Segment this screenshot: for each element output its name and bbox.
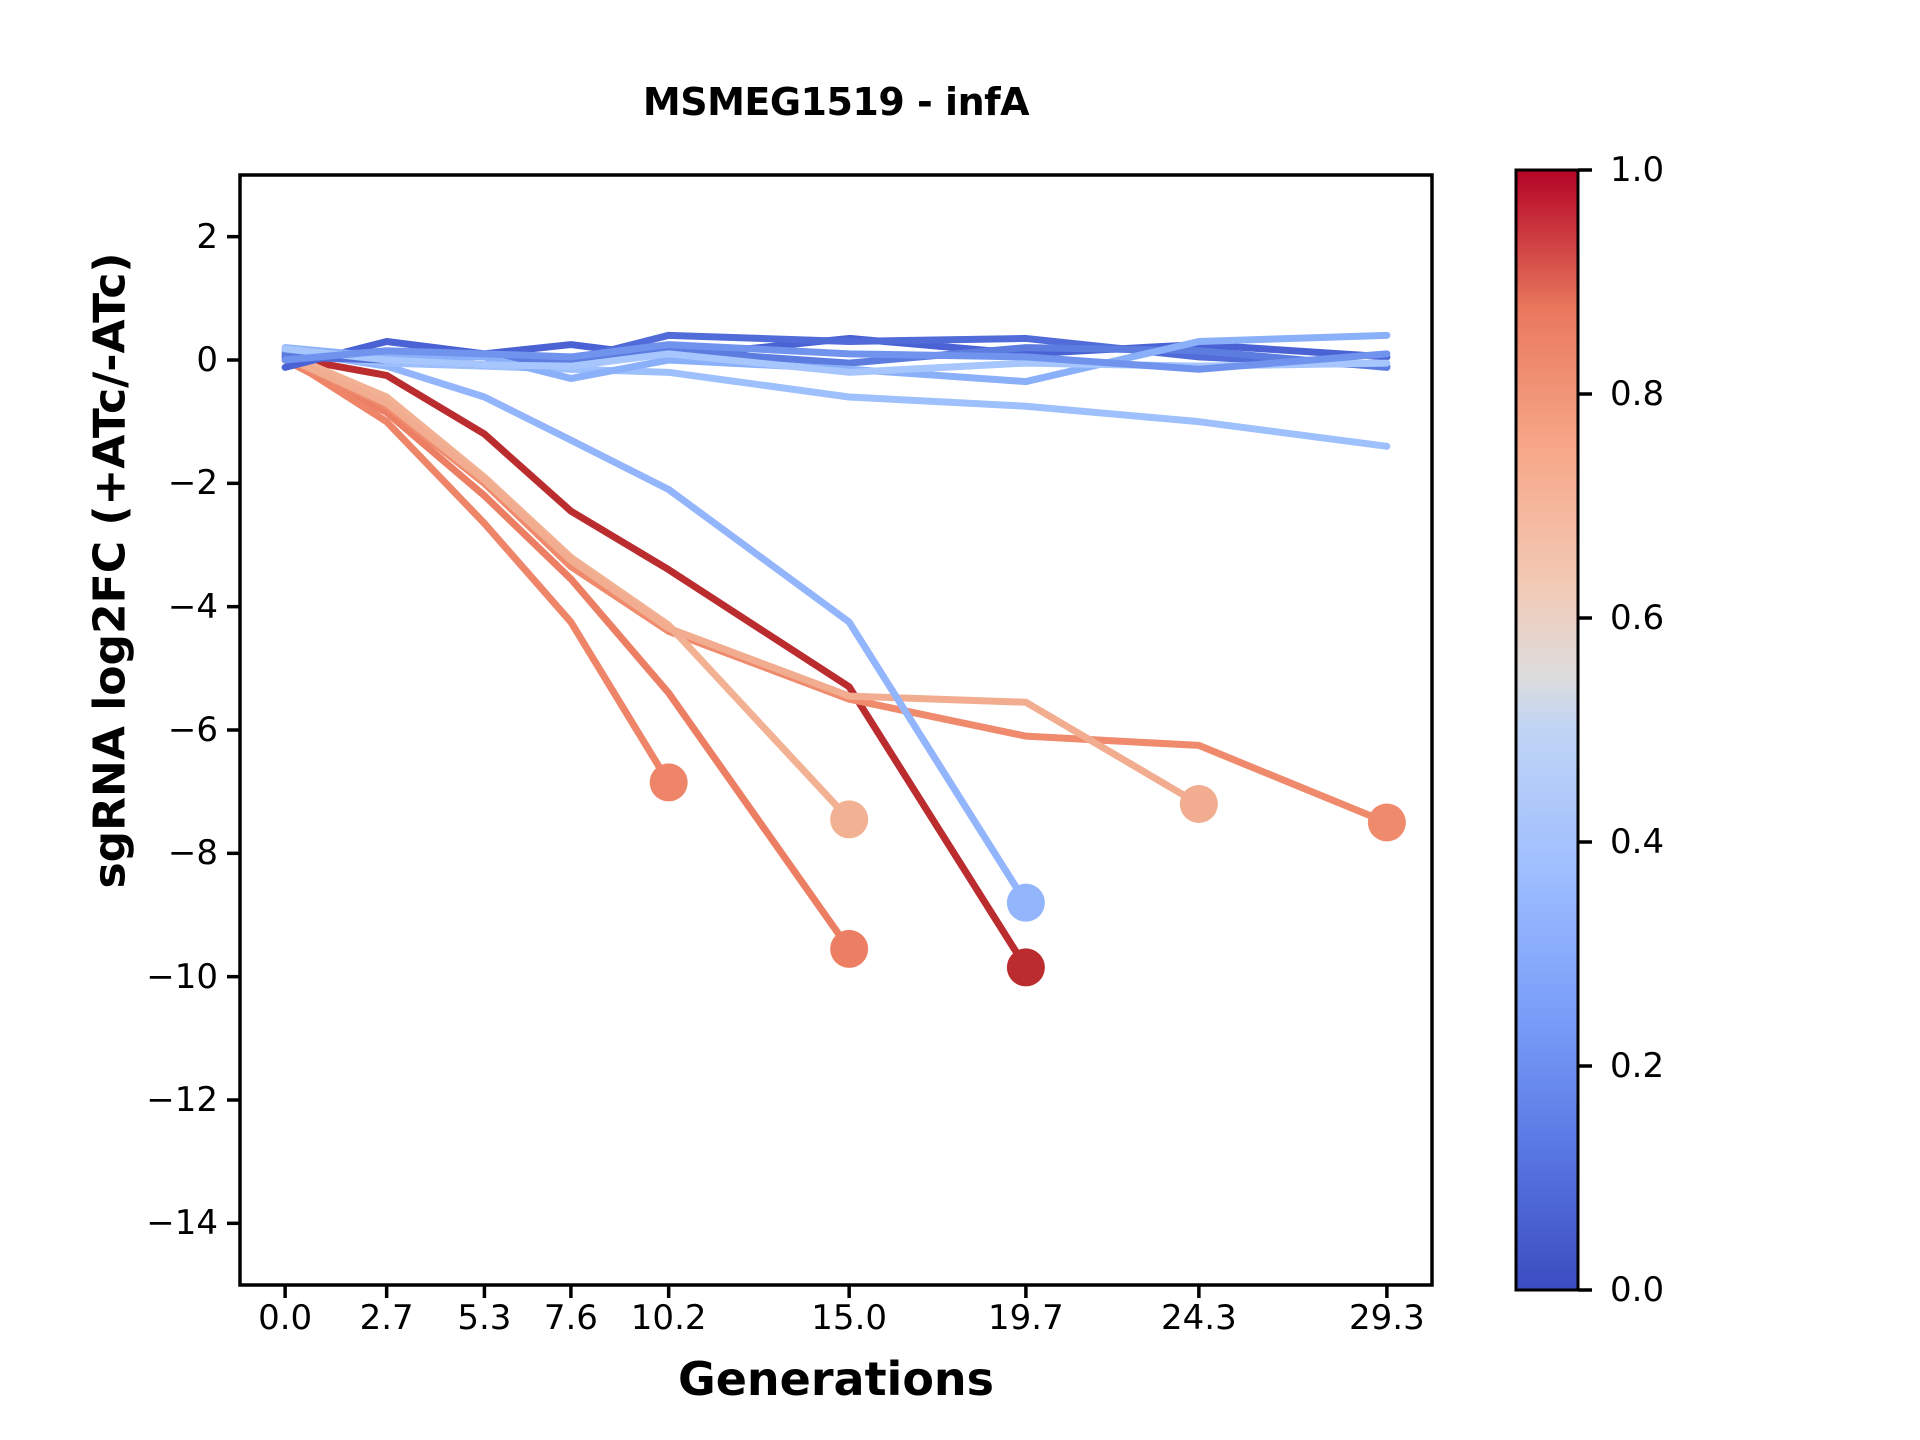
colorbar-tick-label: 1.0 [1610, 150, 1664, 190]
figure-canvas: MSMEG1519 - infA sgRNA log2FC (+ATc/-ATc… [0, 0, 1920, 1440]
colorbar-tick-label: 0.4 [1610, 822, 1664, 862]
colorbar-tick-label: 0.8 [1610, 374, 1664, 414]
colorbar-gradient[interactable] [1516, 170, 1578, 1290]
colorbar[interactable] [0, 0, 1920, 1440]
colorbar-tick-label: 0.6 [1610, 598, 1664, 638]
colorbar-tick-label: 0.2 [1610, 1046, 1664, 1086]
colorbar-tick-label: 0.0 [1610, 1270, 1664, 1310]
colorbar-tick-marks [1578, 170, 1592, 1290]
